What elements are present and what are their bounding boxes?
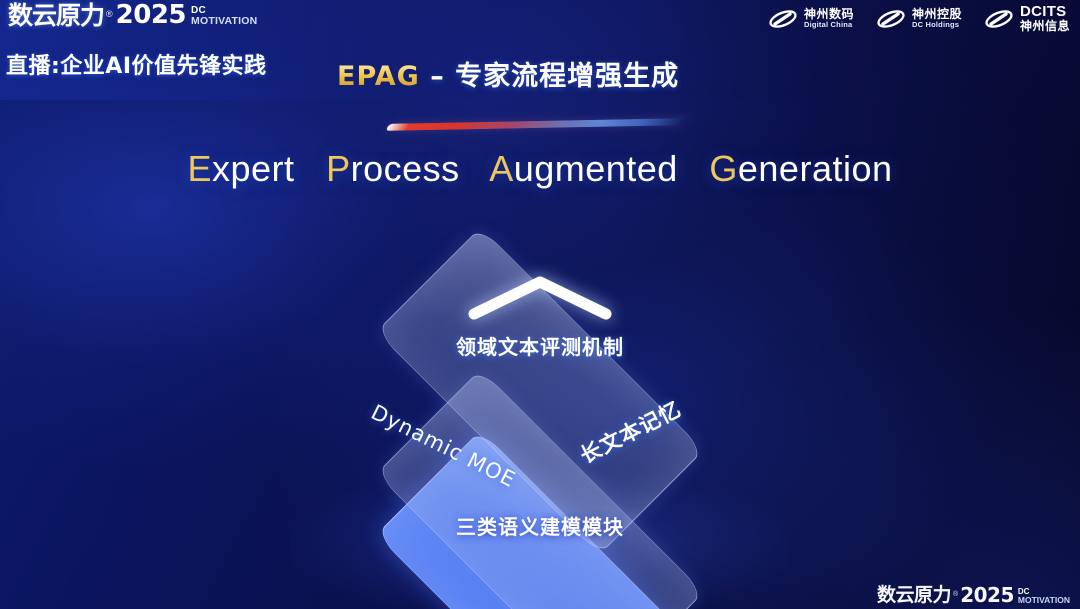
chevron-up-icon bbox=[466, 272, 614, 320]
footer-watermark-year: 2025 bbox=[960, 585, 1014, 605]
footer-watermark-registered-mark: ® bbox=[953, 591, 958, 598]
footer-watermark-cn: 数云原力 bbox=[877, 586, 951, 605]
footer-watermark-dc-line2: MOTIVATION bbox=[1018, 596, 1070, 605]
footer-watermark: 数云原力 ® 2025 DC MOTIVATION bbox=[877, 585, 1070, 605]
footer-watermark-dc: DC MOTIVATION bbox=[1018, 588, 1070, 605]
stack-layer-top-label: 领域文本评测机制 bbox=[456, 331, 624, 360]
layer-stack-diagram: 三类语义建模模块 Dynamic MOE 长文本记忆 领域文本评测机制 bbox=[0, 0, 1080, 609]
stack-layer-bottom-label: 三类语义建模模块 bbox=[456, 511, 624, 540]
slide-canvas: 数云原力 ® 2025 DC MOTIVATION 直播:企业AI价值先锋实践 … bbox=[0, 0, 1080, 609]
